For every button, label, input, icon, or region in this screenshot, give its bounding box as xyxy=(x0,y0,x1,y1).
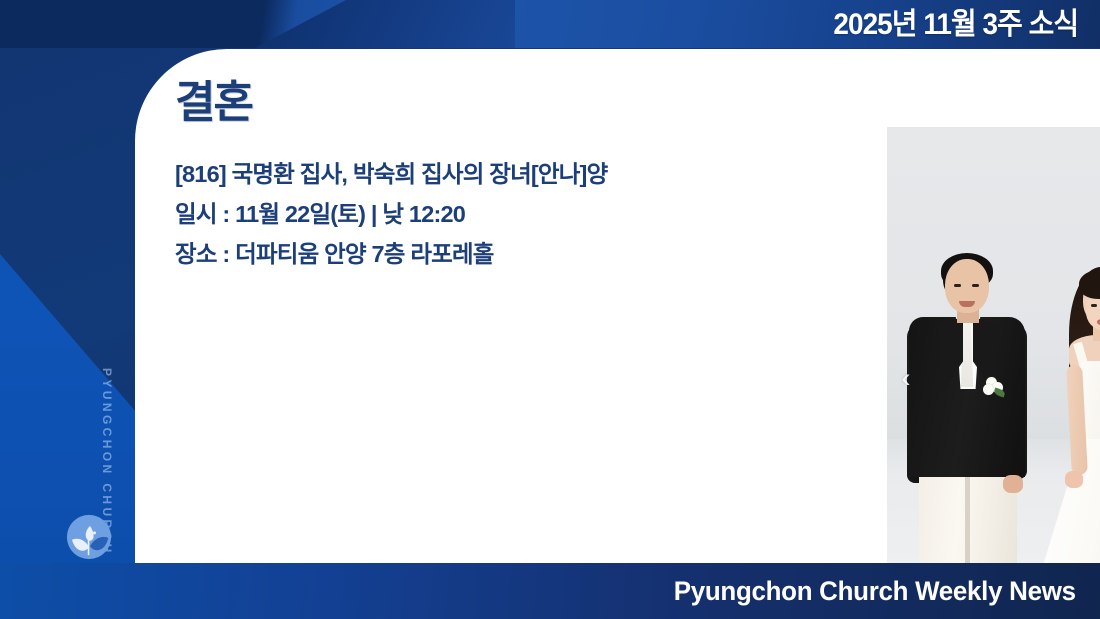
groom-right-eye xyxy=(972,284,979,287)
pyungchon-church-logo xyxy=(66,514,112,560)
announcement-line-couple: [816] 국명환 집사, 박숙희 집사의 장녀[안나]양 xyxy=(175,154,750,194)
footer-bar: Pyungchon Church Weekly News xyxy=(0,563,1100,619)
bride-hand xyxy=(1065,471,1083,488)
photo-backdrop xyxy=(887,127,1100,584)
slide-root: 2025년 11월 3주 소식 결혼 [816] 국명환 집사, 박숙희 집사의… xyxy=(0,0,1100,619)
page-title: 결혼 xyxy=(175,76,252,130)
content-card: 결혼 [816] 국명환 집사, 박숙희 집사의 장녀[안나]양 일시 : 11… xyxy=(135,49,1100,563)
groom-left-eye xyxy=(954,284,961,287)
footer-title: Pyungchon Church Weekly News xyxy=(674,572,1076,610)
announcement-line-datetime: 일시 : 11월 22일(토) | 낮 12:20 xyxy=(175,194,750,234)
header-date-title: 2025년 11월 3주 소식 xyxy=(833,5,1078,45)
groom-boutonniere xyxy=(982,375,1004,399)
announcement-body: [816] 국명환 집사, 박숙희 집사의 장녀[안나]양 일시 : 11월 2… xyxy=(175,154,750,274)
photo-prev-arrow-icon[interactable]: ‹ xyxy=(893,363,919,393)
groom-hand xyxy=(1003,475,1023,493)
bride-left-eye xyxy=(1091,304,1097,307)
wedding-photo[interactable]: ‹ › xyxy=(887,127,1100,584)
announcement-line-venue: 장소 : 더파티움 안양 7층 라포레홀 xyxy=(175,234,750,274)
